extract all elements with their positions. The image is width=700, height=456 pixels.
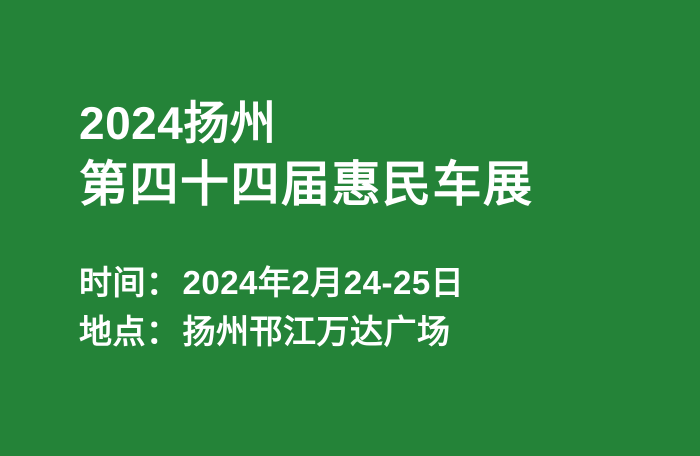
headline-line-2: 第四十四届惠民车展 — [79, 154, 659, 216]
event-date-label: 时间： — [79, 264, 180, 301]
poster-background: 2024扬州 第四十四届惠民车展 时间：2024年2月24-25日 地点：扬州邗… — [0, 0, 700, 456]
event-venue-value: 扬州邗江万达广场 — [183, 313, 451, 350]
headline-line-1: 2024扬州 — [79, 92, 659, 154]
event-date-value: 2024年2月24-25日 — [183, 264, 465, 301]
event-venue-line: 地点：扬州邗江万达广场 — [79, 307, 659, 356]
event-poster: 2024扬州 第四十四届惠民车展 时间：2024年2月24-25日 地点：扬州邗… — [0, 0, 700, 456]
poster-details: 时间：2024年2月24-25日 地点：扬州邗江万达广场 — [79, 258, 659, 356]
poster-headline: 2024扬州 第四十四届惠民车展 — [79, 92, 659, 216]
event-date-line: 时间：2024年2月24-25日 — [79, 258, 659, 307]
event-venue-label: 地点： — [79, 313, 180, 350]
